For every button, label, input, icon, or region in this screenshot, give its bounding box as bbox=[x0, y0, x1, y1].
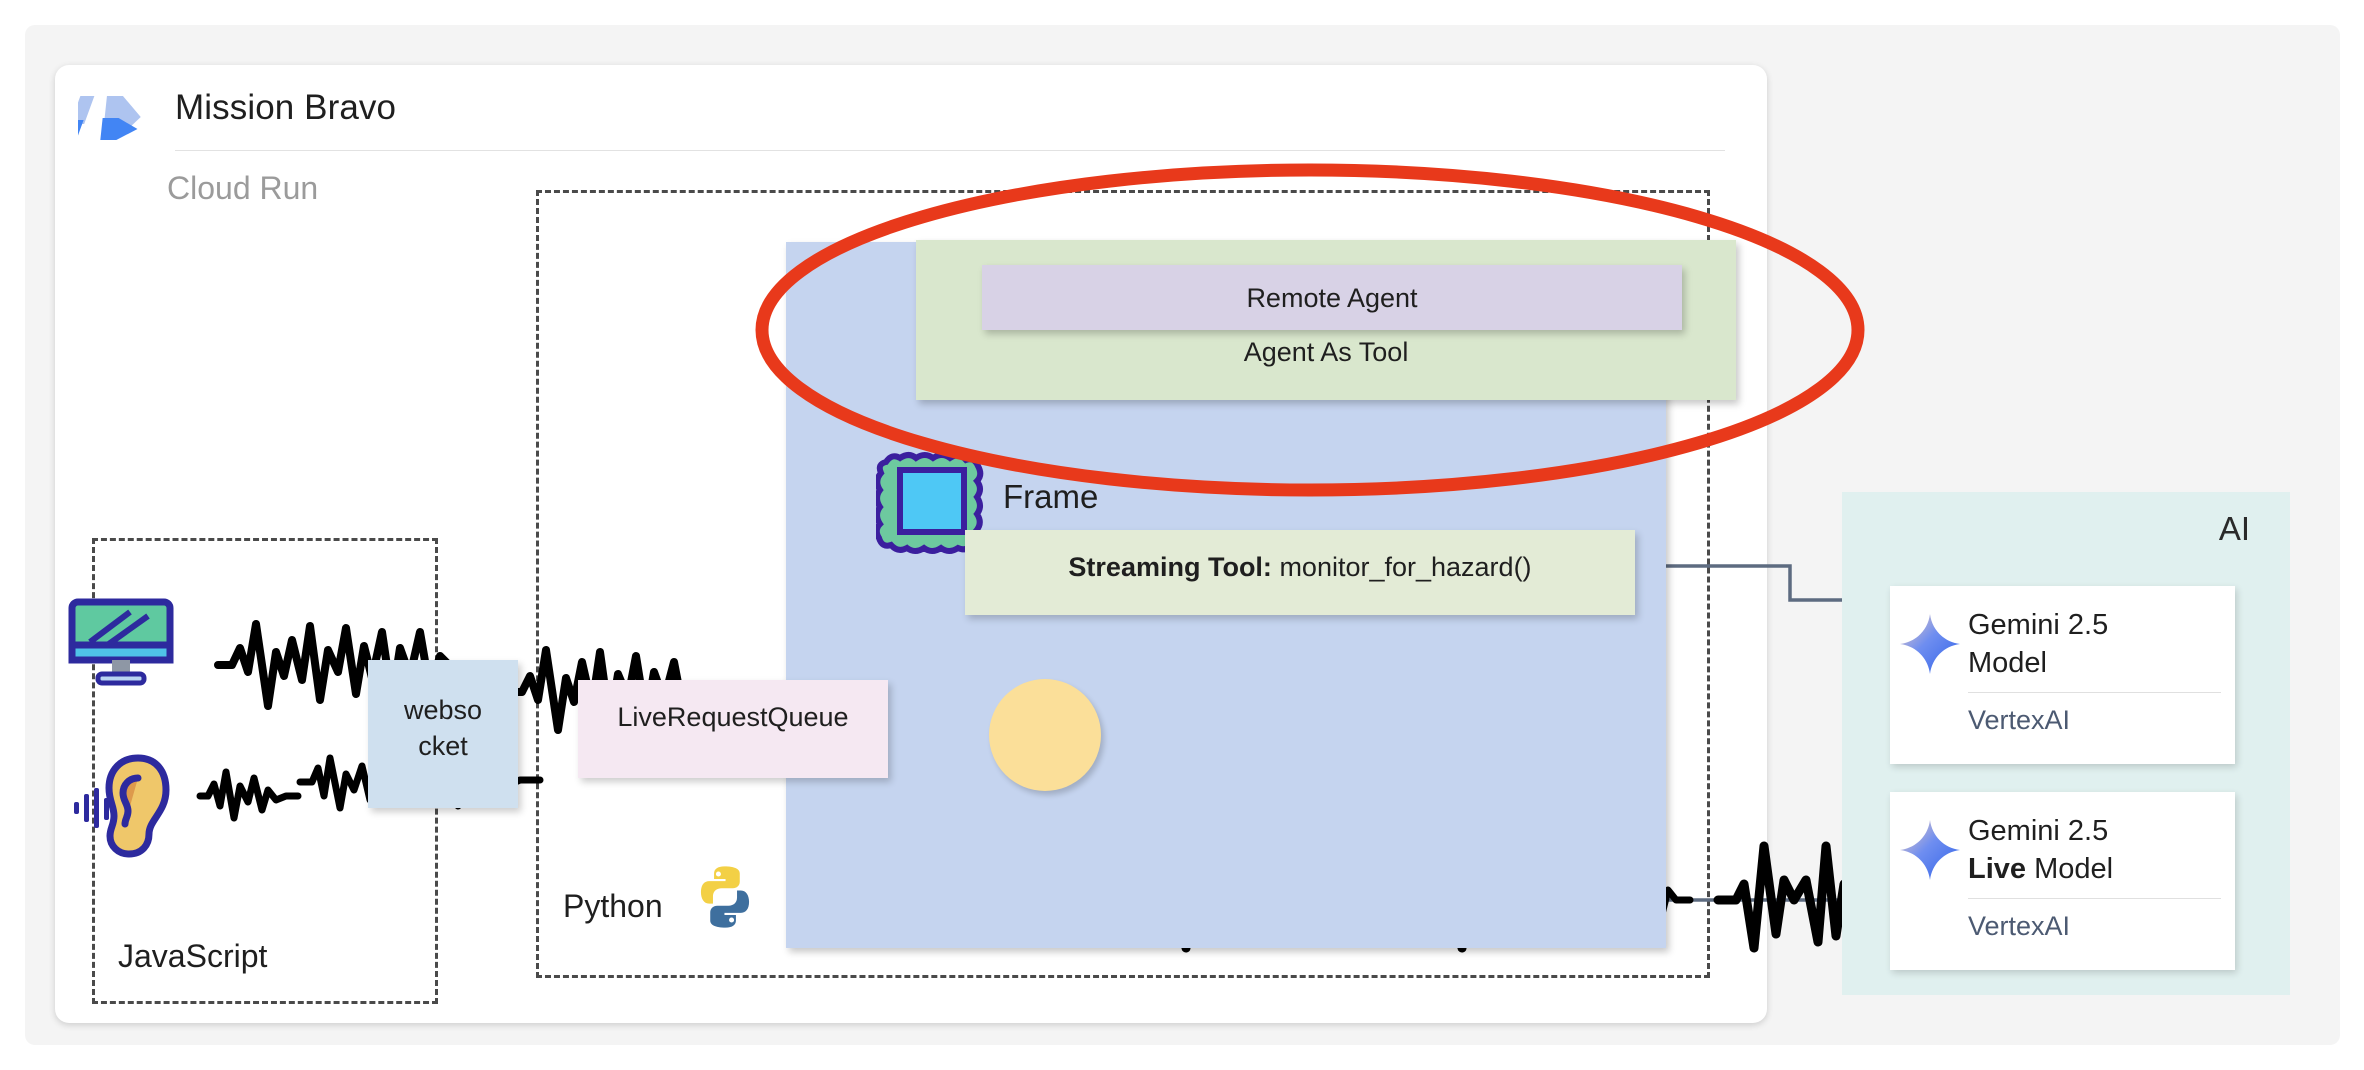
monitor-screen-icon bbox=[68, 598, 174, 688]
streaming-tool-prefix: Streaming Tool: bbox=[1068, 552, 1272, 582]
python-zone-label: Python bbox=[563, 888, 663, 925]
model-name-bold: Live bbox=[1968, 853, 2026, 885]
websocket-label: webso cket bbox=[368, 692, 518, 764]
model-card-body: Gemini 2.5 Model VertexAI bbox=[1968, 586, 2235, 736]
model-name-line2: Live Model bbox=[1968, 850, 2221, 888]
ear-audio-icon bbox=[72, 750, 184, 862]
model-name-line1: Gemini 2.5 bbox=[1968, 606, 2221, 644]
remote-agent-label: Remote Agent bbox=[982, 283, 1682, 314]
websocket-label-line2: cket bbox=[368, 728, 518, 764]
diagram-canvas: Mission Bravo Cloud Run JavaScript Pytho… bbox=[0, 0, 2364, 1070]
websocket-label-line1: webso bbox=[368, 692, 518, 728]
model-name-line2: Model bbox=[1968, 644, 2221, 682]
model-provider: VertexAI bbox=[1968, 899, 2221, 942]
agent-circle-node bbox=[989, 679, 1101, 791]
remote-agent-panel: Remote Agent bbox=[982, 265, 1682, 330]
agent-as-tool-label: Agent As Tool bbox=[916, 337, 1736, 368]
model-name: Gemini 2.5 Model bbox=[1968, 606, 2221, 682]
gemini-sparkle-icon bbox=[1898, 818, 1968, 887]
ai-panel-title: AI bbox=[2219, 510, 2250, 548]
service-subtitle: Cloud Run bbox=[167, 170, 318, 207]
model-card-gemini[interactable]: Gemini 2.5 Model VertexAI bbox=[1890, 586, 2235, 764]
model-card-gemini-live[interactable]: Gemini 2.5 Live Model VertexAI bbox=[1890, 792, 2235, 970]
model-card-body: Gemini 2.5 Live Model VertexAI bbox=[1968, 792, 2235, 942]
python-logo-icon bbox=[690, 862, 760, 932]
streaming-tool-name: monitor_for_hazard() bbox=[1272, 552, 1532, 582]
model-name-suffix: Model bbox=[1968, 647, 2047, 679]
page-title: Mission Bravo bbox=[175, 88, 396, 128]
live-request-queue-box: LiveRequestQueue bbox=[578, 680, 888, 778]
model-provider: VertexAI bbox=[1968, 693, 2221, 736]
streaming-tool-box: Streaming Tool: monitor_for_hazard() bbox=[965, 530, 1635, 615]
streaming-tool-label: Streaming Tool: monitor_for_hazard() bbox=[965, 552, 1635, 583]
model-name: Gemini 2.5 Live Model bbox=[1968, 812, 2221, 888]
websocket-box: webso cket bbox=[368, 660, 518, 808]
model-name-line1: Gemini 2.5 bbox=[1968, 812, 2221, 850]
javascript-zone-label: JavaScript bbox=[118, 938, 267, 975]
model-name-suffix: Model bbox=[2026, 853, 2113, 885]
cloud-run-logo-icon bbox=[78, 86, 150, 148]
live-request-queue-label: LiveRequestQueue bbox=[578, 702, 888, 733]
header-divider bbox=[175, 150, 1725, 151]
gemini-sparkle-icon bbox=[1898, 612, 1968, 681]
frame-label: Frame bbox=[1003, 478, 1098, 516]
